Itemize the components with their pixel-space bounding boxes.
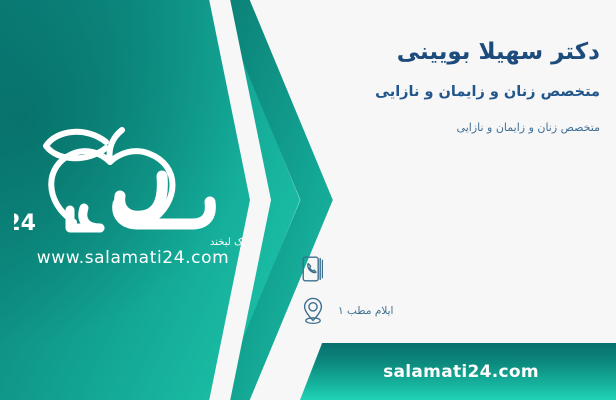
contact-row-location[interactable]: ایلام مطب ۱ (298, 290, 598, 332)
doctor-specialty: متخصص زنان و زایمان و نازایی (292, 82, 600, 102)
logo-tagline: براحتی یک لبخند (210, 237, 252, 248)
location-pin-icon[interactable] (298, 294, 328, 328)
doctor-specialty-secondary: متخصص زنان و زایمان و نازایی (292, 120, 600, 135)
business-card: 24 براحتی یک لبخند www.salamati24.com دک… (0, 0, 616, 400)
contact-row-phone[interactable] (298, 248, 598, 290)
logo-website-url: www.salamati24.com (14, 248, 252, 268)
salamati24-logo: 24 براحتی یک لبخند www.salamati24.com (14, 104, 252, 274)
footer-website[interactable]: salamati24.com (383, 362, 539, 382)
doctor-name: دکتر سهیلا بویینی (292, 38, 600, 68)
logo-badge-number: 24 (14, 211, 36, 236)
doctor-info: دکتر سهیلا بویینی متخصص زنان و زایمان و … (292, 38, 600, 136)
phone-book-icon[interactable] (298, 252, 328, 286)
footer-bar: salamati24.com (300, 343, 616, 400)
contact-list: ایلام مطب ۱ (298, 248, 598, 332)
contact-location-label: ایلام مطب ۱ (338, 305, 393, 317)
